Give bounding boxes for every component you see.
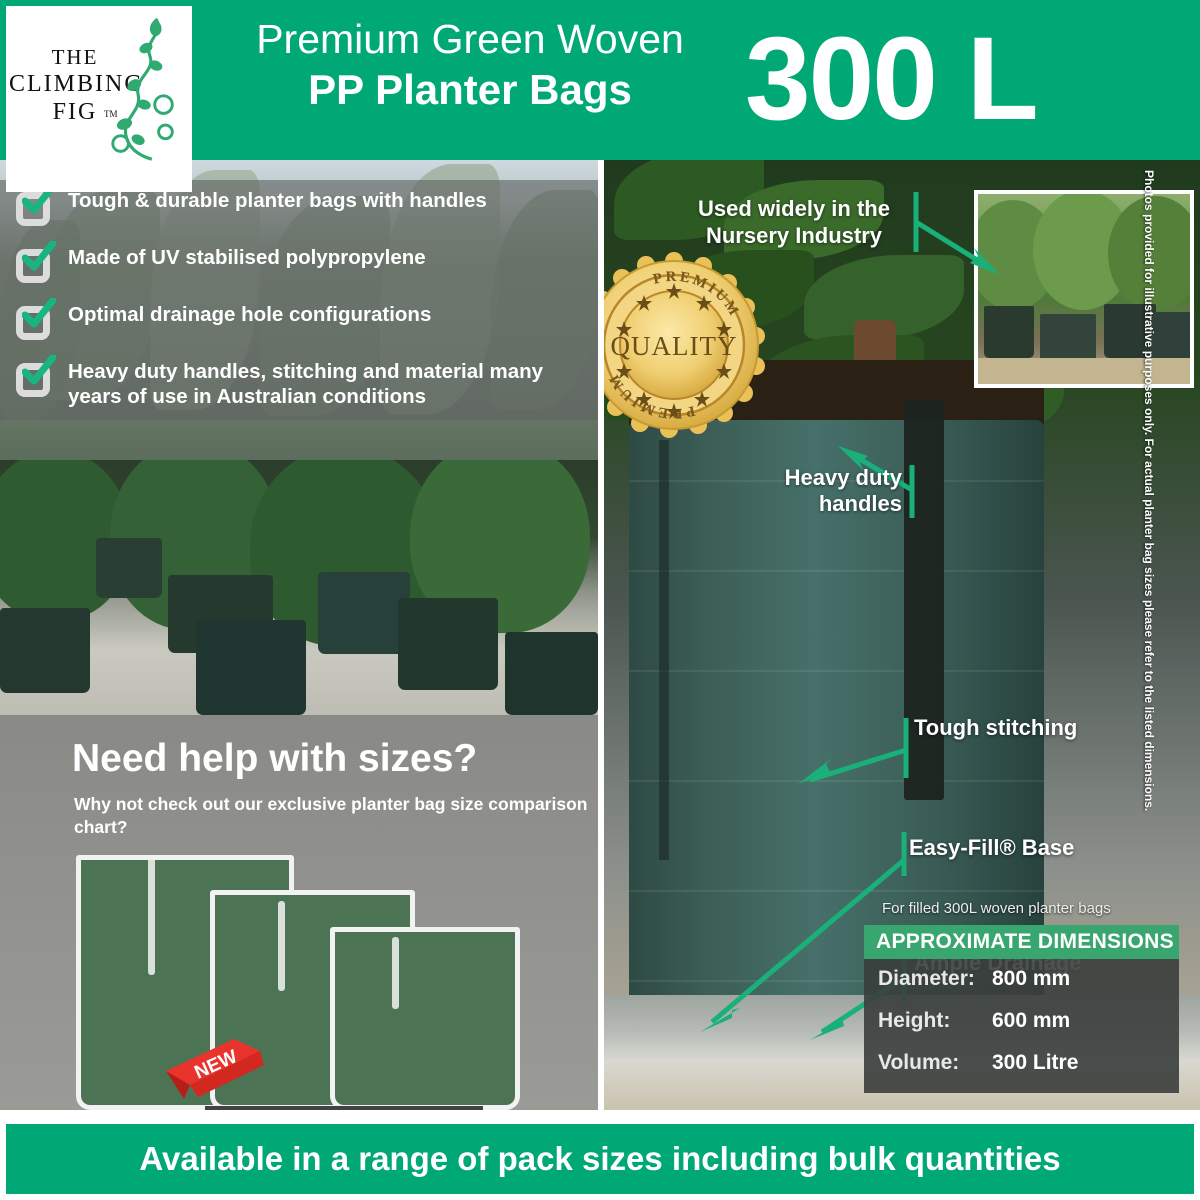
dimension-key: Volume: [878,1051,959,1075]
size-help-title: Need help with sizes? [72,737,477,781]
dimension-value: 300 Litre [992,1051,1078,1075]
nursery-inset-photo [974,190,1194,388]
header-title-group: Premium Green Woven PP Planter Bags [200,14,740,116]
checkbox-checked-icon [16,188,56,228]
vine-icon [105,13,183,163]
svg-text:QUALITY: QUALITY [611,331,738,361]
product-infographic: Premium Green Woven PP Planter Bags 300 … [0,0,1200,1200]
dimension-value: 600 mm [992,1009,1070,1033]
footer-banner: Available in a range of pack sizes inclu… [6,1124,1194,1194]
brand-logo: THE CLIMBING FIG TM [6,6,192,192]
dimension-key: Diameter: [878,967,975,991]
feature-list: Tough & durable planter bags with handle… [8,188,598,420]
logo-inner: THE CLIMBING FIG TM [9,9,189,189]
dimensions-caption: For filled 300L woven planter bags [882,900,1111,917]
table-row: Height: 600 mm [864,1001,1179,1043]
footer-text: Available in a range of pack sizes inclu… [6,1124,1194,1194]
dimension-value: 800 mm [992,967,1070,991]
premium-quality-seal-icon: PREMIUM PREMIUM PREMIUM PREMIUM [604,245,774,445]
checkbox-checked-icon [16,245,56,285]
table-row: Volume: 300 Litre [864,1043,1179,1085]
feature-item: Made of UV stabilised polypropylene [8,245,598,291]
dimensions-box: APPROXIMATE DIMENSIONS Diameter: 800 mm … [864,925,1179,1093]
checkbox-checked-icon [16,302,56,342]
feature-item: Heavy duty handles, stitching and materi… [8,359,598,409]
feature-label: Heavy duty handles, stitching and materi… [68,360,543,408]
annotation-handles: Heavy duty handles [762,465,902,517]
size-chart-label-box: Woven Planter Bag SIZE CHART [205,1106,483,1110]
left-column: Tough & durable planter bags with handle… [0,160,598,1110]
feature-item: Optimal drainage hole configurations [8,302,598,348]
feature-label: Tough & durable planter bags with handle… [68,189,487,212]
bag-side-seam [659,440,669,860]
dimensions-heading-bar: APPROXIMATE DIMENSIONS [864,925,1179,959]
dimension-key: Height: [878,1009,950,1033]
dimensions-heading: APPROXIMATE DIMENSIONS [876,930,1174,954]
right-column: PREMIUM PREMIUM PREMIUM PREMIUM [604,160,1200,1110]
table-row: Diameter: 800 mm [864,959,1179,1001]
page-title-line1: Premium Green Woven [200,14,740,64]
feature-item: Tough & durable planter bags with handle… [8,188,598,234]
size-chart-bag-small [330,927,520,1110]
size-help-subtitle: Why not check out our exclusive planter … [74,793,598,839]
feature-label: Made of UV stabilised polypropylene [68,246,426,269]
feature-label: Optimal drainage hole configurations [68,303,431,326]
size-badge: 300 L [745,4,1145,154]
nursery-row-photo [0,460,598,715]
new-ribbon-badge: NEW [162,1035,282,1099]
size-help-panel: Need help with sizes? Why not check out … [0,715,598,1110]
checkbox-checked-icon [16,359,56,399]
disclaimer-text: Photos provided for illustrative purpose… [1142,170,1156,1100]
dimensions-table: Diameter: 800 mm Height: 600 mm Volume: … [864,959,1179,1093]
annotation-nursery: Used widely in the Nursery Industry [674,195,914,249]
annotation-stitching: Tough stitching [914,715,1077,741]
annotation-easy-fill-base: Easy-Fill® Base [909,835,1074,861]
page-title-line2: PP Planter Bags [200,64,740,116]
